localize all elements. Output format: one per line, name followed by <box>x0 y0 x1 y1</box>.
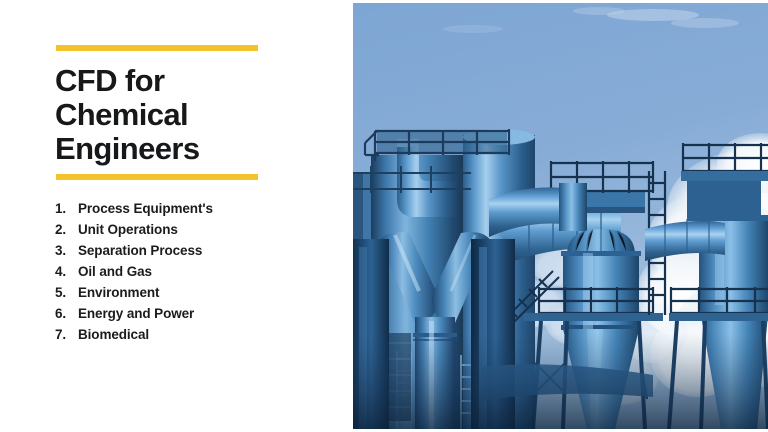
list-item-label: Oil and Gas <box>78 261 345 282</box>
photo-panel <box>352 0 768 432</box>
list-item-label: Biomedical <box>78 324 345 345</box>
list-item-label: Process Equipment's <box>78 198 345 219</box>
list-item-number: 4. <box>55 261 78 282</box>
list-item-label: Unit Operations <box>78 219 345 240</box>
list-item: 3. Separation Process <box>55 240 345 261</box>
platform-deck-right <box>669 313 768 321</box>
slide-canvas: CFD for Chemical Engineers 1. Process Eq… <box>0 0 768 432</box>
list-item: 7. Biomedical <box>55 324 345 345</box>
industrial-plant-photo <box>353 3 768 429</box>
list-item-number: 7. <box>55 324 78 345</box>
list-item-number: 2. <box>55 219 78 240</box>
bottom-shading <box>353 333 768 429</box>
page-title: CFD for Chemical Engineers <box>55 64 335 166</box>
platform-deck-mid <box>523 313 663 321</box>
list-item: 1. Process Equipment's <box>55 198 345 219</box>
list-item: 2. Unit Operations <box>55 219 345 240</box>
list-item-number: 1. <box>55 198 78 219</box>
list-item: 6. Energy and Power <box>55 303 345 324</box>
platform-deck-upper-right <box>681 171 768 181</box>
list-item: 5. Environment <box>55 282 345 303</box>
list-item-label: Energy and Power <box>78 303 345 324</box>
list-item-label: Separation Process <box>78 240 345 261</box>
accent-rule-bottom <box>56 174 258 180</box>
list-item-number: 5. <box>55 282 78 303</box>
structure-block-upper-right <box>687 181 761 221</box>
topic-list: 1. Process Equipment's 2. Unit Operation… <box>55 198 345 345</box>
industrial-plant-illustration <box>353 3 768 429</box>
accent-rule-top <box>56 45 258 51</box>
list-item-number: 3. <box>55 240 78 261</box>
text-panel: CFD for Chemical Engineers 1. Process Eq… <box>0 0 352 432</box>
list-item: 4. Oil and Gas <box>55 261 345 282</box>
list-item-number: 6. <box>55 303 78 324</box>
list-item-label: Environment <box>78 282 345 303</box>
